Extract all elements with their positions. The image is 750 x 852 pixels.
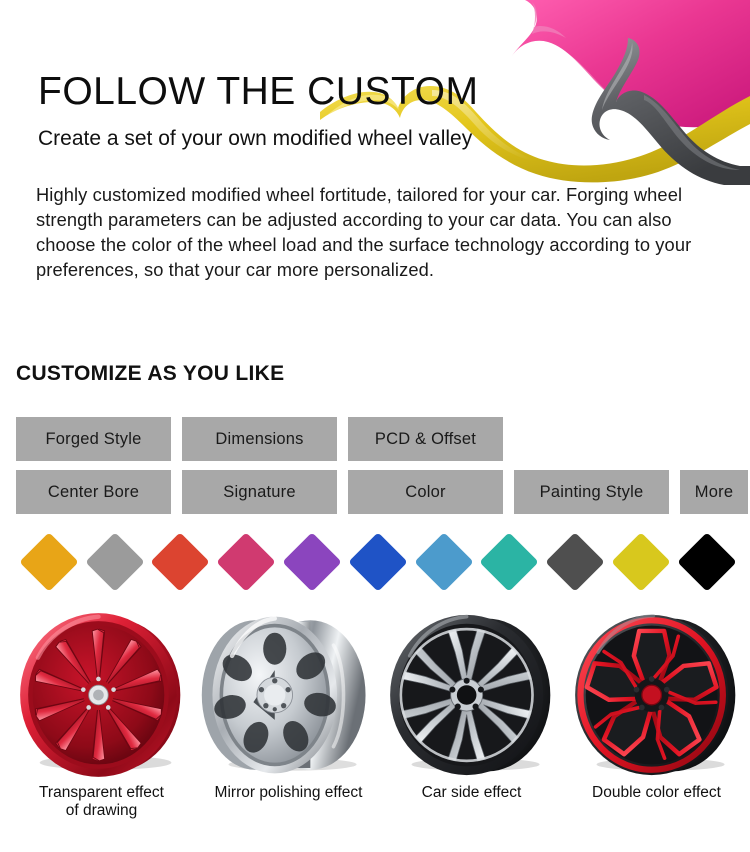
wheel-image-red-split-spoke (8, 604, 195, 786)
wheel-caption: Mirror polishing effect (195, 784, 382, 802)
diamond-icon (217, 532, 276, 591)
color-swatch-yellow[interactable] (608, 527, 674, 597)
wheel-card-transparent-effect[interactable]: Transparent effect of drawing (8, 604, 195, 852)
color-swatch-black[interactable] (674, 527, 740, 597)
color-swatch-amber[interactable] (16, 527, 82, 597)
option-chip-painting-style[interactable]: Painting Style (514, 470, 669, 514)
wheel-caption: Double color effect (563, 784, 750, 802)
diamond-icon (546, 532, 605, 591)
wheel-gallery: Transparent effect of drawing (0, 604, 750, 852)
option-chip-forged-style[interactable]: Forged Style (16, 417, 171, 461)
option-chip-signature[interactable]: Signature (182, 470, 337, 514)
option-chip-center-bore[interactable]: Center Bore (16, 470, 171, 514)
diamond-icon (611, 532, 670, 591)
customize-section-heading: CUSTOMIZE AS YOU LIKE (16, 362, 284, 386)
wheel-image-chrome-dish (195, 604, 382, 786)
diamond-icon (151, 532, 210, 591)
wheel-card-double-color-effect[interactable]: Double color effect (563, 604, 750, 852)
option-row-1: Forged Style Dimensions PCD & Offset (16, 417, 740, 461)
option-chip-dimensions[interactable]: Dimensions (182, 417, 337, 461)
color-swatch-gray[interactable] (82, 527, 148, 597)
color-swatch-dark-gray[interactable] (542, 527, 608, 597)
diamond-icon (348, 532, 407, 591)
diamond-icon (282, 532, 341, 591)
wheel-image-machined-mesh (378, 604, 565, 786)
promo-page: FOLLOW THE CUSTOM Create a set of your o… (0, 0, 750, 852)
color-swatch-blue[interactable] (345, 527, 411, 597)
option-chip-pcd-offset[interactable]: PCD & Offset (348, 417, 503, 461)
page-subtitle: Create a set of your own modified wheel … (38, 128, 472, 149)
color-swatch-row (16, 527, 740, 597)
option-chip-color[interactable]: Color (348, 470, 503, 514)
wheel-card-mirror-polishing[interactable]: Mirror polishing effect (195, 604, 382, 852)
wheel-image-red-black (563, 604, 750, 786)
diamond-icon (677, 532, 736, 591)
wheel-caption: Transparent effect of drawing (8, 784, 195, 820)
color-swatch-magenta[interactable] (213, 527, 279, 597)
wheel-caption: Car side effect (378, 784, 565, 802)
page-title: FOLLOW THE CUSTOM (38, 72, 478, 111)
color-swatch-red-orange[interactable] (148, 527, 214, 597)
option-row-2: Center Bore Signature Color Painting Sty… (16, 470, 740, 514)
option-chip-more[interactable]: More (680, 470, 748, 514)
customize-options: Forged Style Dimensions PCD & Offset Cen… (16, 417, 740, 523)
color-swatch-sky-blue[interactable] (411, 527, 477, 597)
color-swatch-purple[interactable] (279, 527, 345, 597)
diamond-icon (19, 532, 78, 591)
diamond-icon (85, 532, 144, 591)
wheel-card-car-side-effect[interactable]: Car side effect (378, 604, 565, 852)
diamond-icon (480, 532, 539, 591)
diamond-icon (414, 532, 473, 591)
page-description: Highly customized modified wheel fortitu… (36, 182, 736, 282)
color-swatch-teal[interactable] (477, 527, 543, 597)
